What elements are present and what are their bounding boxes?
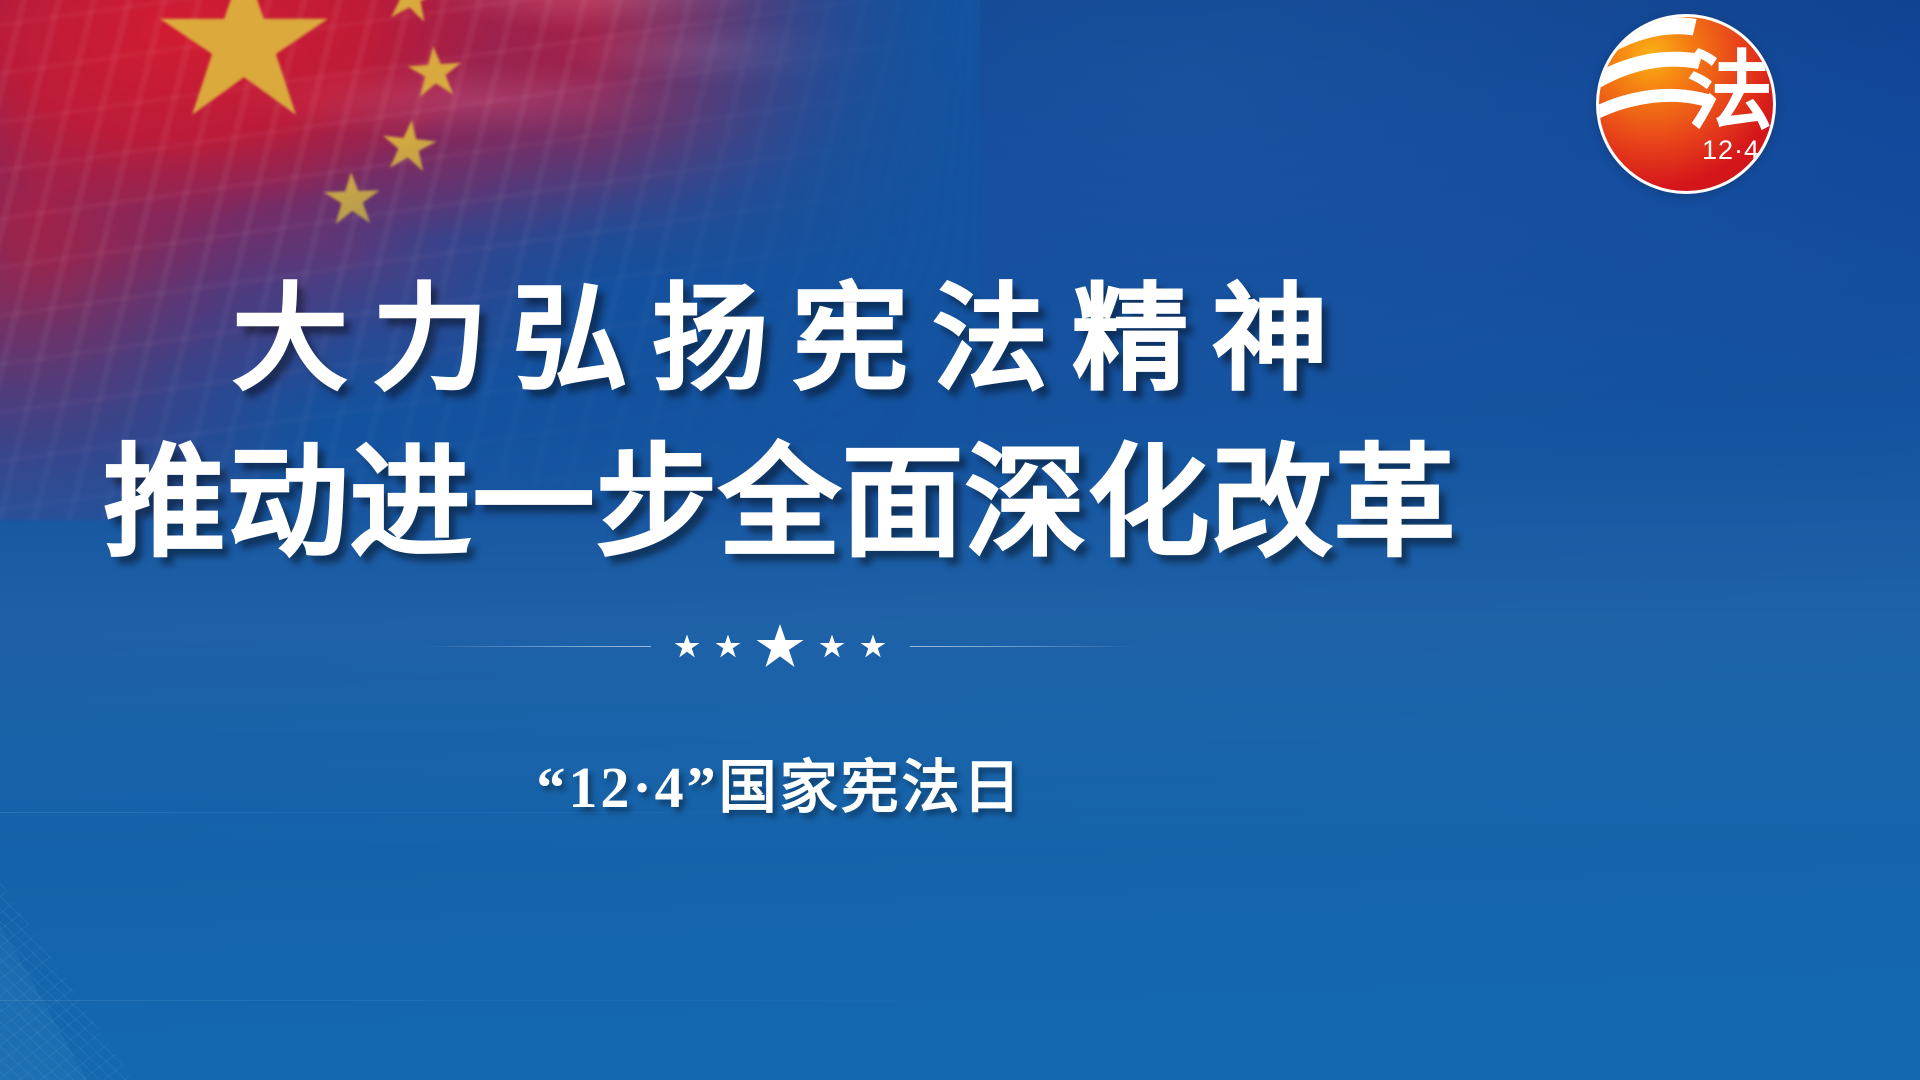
headline-block: 大力弘扬宪法精神 推动进一步全面深化改革 bbox=[0, 274, 1560, 570]
flag-star-small-3 bbox=[379, 117, 438, 174]
map-texture-lines bbox=[0, 800, 290, 1080]
flag-star-small-4 bbox=[323, 171, 381, 227]
divider-star-group bbox=[651, 624, 910, 669]
divider-star-5 bbox=[861, 635, 886, 659]
divider-star-4 bbox=[820, 635, 845, 659]
logo-fa-character: 法 bbox=[1687, 39, 1773, 145]
flag-star-small-2 bbox=[406, 44, 463, 100]
logo-date-label: 12·4 bbox=[1685, 135, 1773, 165]
constitution-day-logo[interactable]: 法 12·4 bbox=[1596, 14, 1776, 194]
subtitle-text: “12·4”国家宪法日 bbox=[0, 740, 1560, 824]
poster-canvas: 法 12·4 大力弘扬宪法精神 推动进一步全面深化改革 “12·4”国家宪法日 bbox=[0, 0, 1920, 1080]
headline-line-1: 大力弘扬宪法精神 bbox=[0, 274, 1560, 404]
headline-line-2: 推动进一步全面深化改革 bbox=[0, 436, 1560, 570]
star-divider bbox=[0, 624, 1560, 669]
divider-star-1 bbox=[675, 635, 700, 659]
divider-line-left bbox=[421, 646, 651, 647]
flag-star-small-1 bbox=[381, 0, 442, 26]
divider-star-2 bbox=[716, 635, 741, 659]
divider-star-center bbox=[757, 624, 804, 669]
hairline-rule-2 bbox=[0, 1000, 1920, 1001]
divider-line-right bbox=[910, 646, 1140, 647]
logo-gradient-disc: 法 12·4 bbox=[1599, 17, 1773, 191]
flag-star-large bbox=[160, 0, 328, 122]
